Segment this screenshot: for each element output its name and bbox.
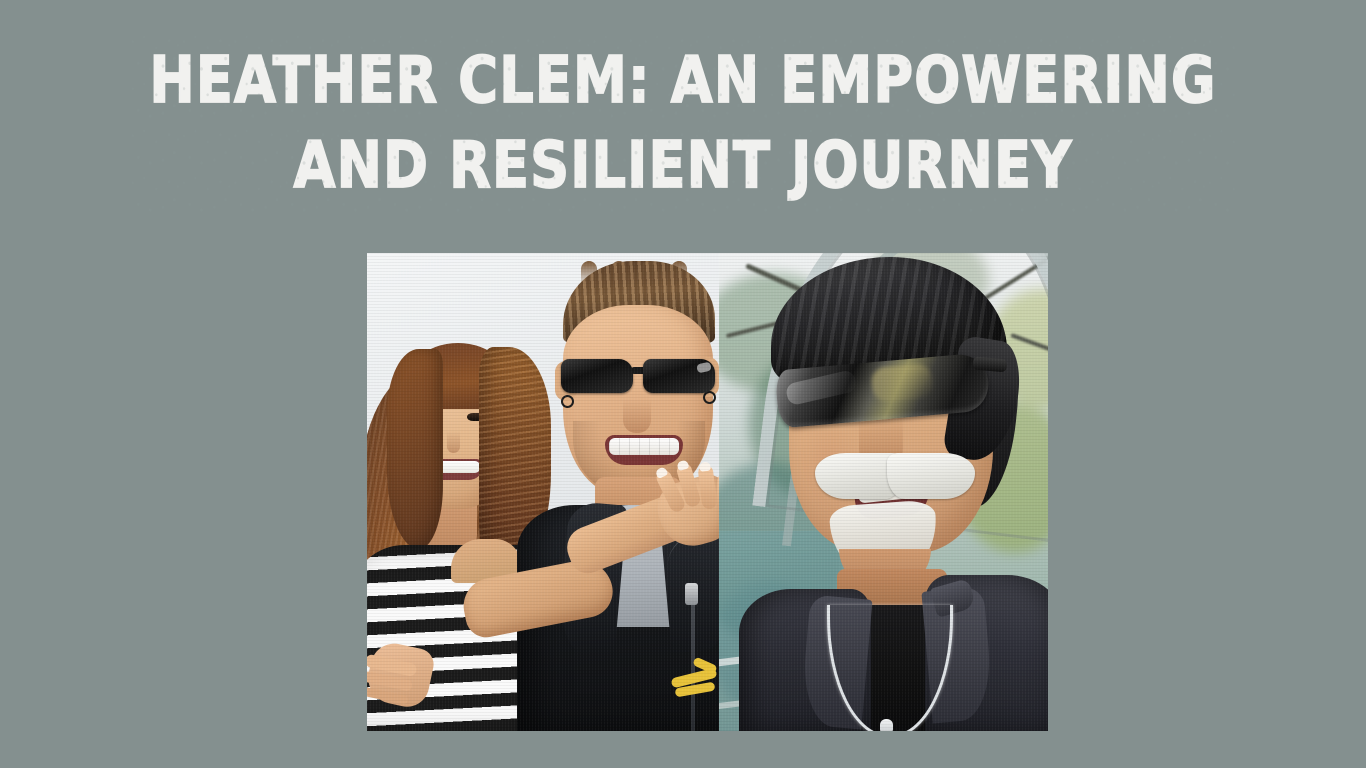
man-sunglasses	[557, 357, 719, 397]
title-block: HEATHER CLEM: AN EMPOWERING AND RESILIEN…	[0, 38, 1366, 190]
photo-collage	[367, 253, 1048, 731]
man-lens-left	[561, 359, 633, 393]
man-nose	[623, 399, 651, 433]
man-hair-spike	[581, 261, 597, 287]
man-lens-right	[643, 359, 715, 393]
woman-nose	[447, 431, 460, 453]
subject-mustache	[815, 453, 975, 501]
couple-photo	[367, 253, 719, 731]
slide-canvas: HEATHER CLEM: AN EMPOWERING AND RESILIEN…	[0, 0, 1366, 768]
man-zipper-pull	[685, 583, 698, 605]
necklace-bead	[880, 719, 893, 731]
man-teeth	[609, 438, 679, 455]
jacket-logo-icon	[667, 659, 719, 703]
man-hair-spike	[611, 261, 627, 287]
page-title: HEATHER CLEM: AN EMPOWERING AND RESILIEN…	[34, 38, 1332, 208]
woman-hair-left	[387, 349, 443, 549]
man-hair-spike	[671, 261, 687, 287]
wrestler-photo	[719, 253, 1048, 731]
man-hair-spike	[641, 261, 657, 287]
man-mouth	[605, 435, 683, 465]
